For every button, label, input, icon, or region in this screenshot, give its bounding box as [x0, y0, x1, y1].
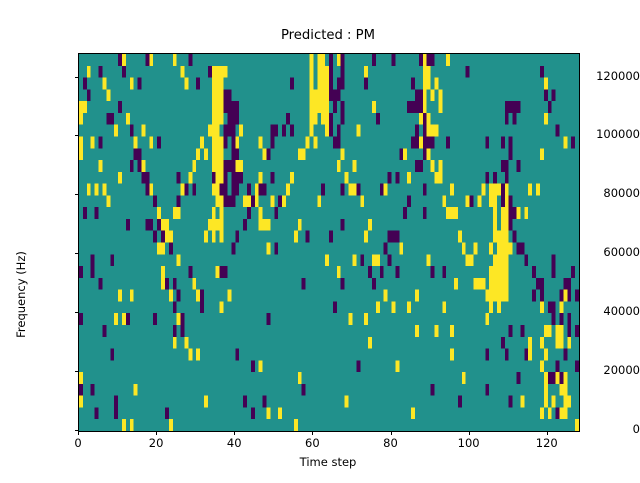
x-tick-label: 60 — [282, 436, 342, 450]
y-tick-label: 20000 — [576, 363, 640, 377]
heatmap-canvas — [79, 54, 579, 431]
x-tick-label: 40 — [204, 436, 264, 450]
x-axis-label: Time step — [78, 455, 578, 469]
x-tick-mark — [78, 431, 79, 435]
y-tick-mark — [75, 194, 79, 195]
y-tick-label: 100000 — [576, 127, 640, 141]
y-tick-mark — [75, 135, 79, 136]
y-tick-mark — [75, 77, 79, 78]
x-tick-label: 0 — [48, 436, 108, 450]
y-tick-label: 40000 — [576, 304, 640, 318]
x-tick-mark — [391, 431, 392, 435]
x-tick-label: 20 — [126, 436, 186, 450]
x-tick-mark — [547, 431, 548, 435]
x-tick-mark — [469, 431, 470, 435]
y-tick-label: 120000 — [576, 69, 640, 83]
x-tick-label: 80 — [361, 436, 421, 450]
y-tick-label: 60000 — [576, 245, 640, 259]
y-axis-label: Frequency (Hz) — [14, 106, 28, 483]
x-tick-mark — [156, 431, 157, 435]
x-tick-label: 120 — [517, 436, 577, 450]
x-tick-mark — [312, 431, 313, 435]
x-tick-label: 100 — [439, 436, 499, 450]
heatmap-axes — [78, 53, 580, 432]
y-tick-mark — [75, 312, 79, 313]
y-tick-label: 80000 — [576, 186, 640, 200]
matplotlib-figure: Predicted : PM 0200004000060000800001000… — [0, 0, 640, 480]
x-tick-mark — [234, 431, 235, 435]
heatmap-image — [79, 54, 579, 431]
y-tick-mark — [75, 371, 79, 372]
page-title: Predicted : PM — [78, 28, 578, 44]
y-tick-mark — [75, 253, 79, 254]
y-axis-label-wrap: Frequency (Hz) — [14, 53, 28, 430]
y-tick-label: 0 — [576, 422, 640, 436]
